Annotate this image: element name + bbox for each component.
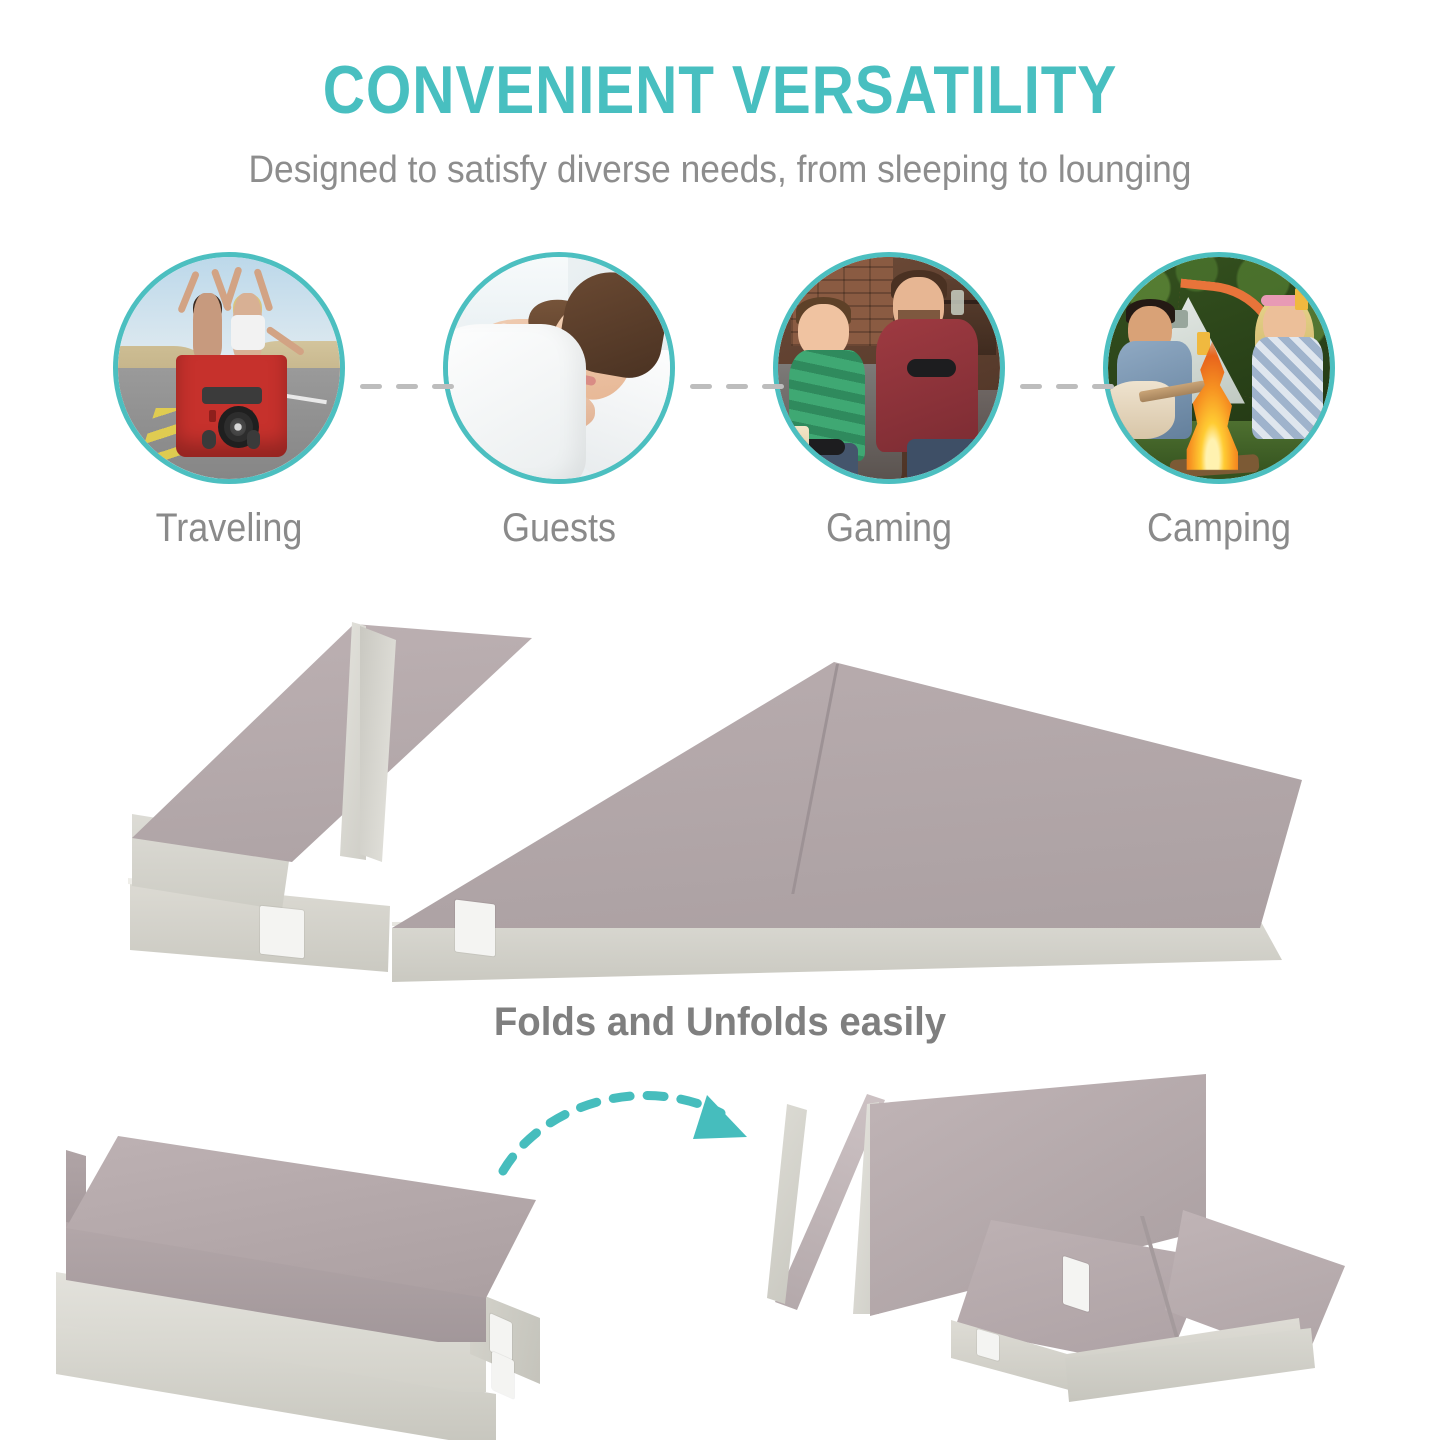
usecase-label: Gaming xyxy=(785,506,994,551)
connector-dashes xyxy=(360,383,454,389)
connector-dashes xyxy=(690,383,784,389)
tent-fold-photo xyxy=(765,1070,1345,1430)
usecase-guests: Guests xyxy=(443,252,675,551)
handle-tab xyxy=(260,906,304,959)
handle-tab xyxy=(455,900,495,957)
usecase-camping: Camping xyxy=(1103,252,1335,551)
page-title: CONVENIENT VERSATILITY xyxy=(101,56,1339,124)
usecase-label: Camping xyxy=(1115,506,1324,551)
folds-caption: Folds and Unfolds easily xyxy=(29,1000,1411,1045)
photo-campfire xyxy=(1108,257,1330,479)
usecase-row: Traveling Guests xyxy=(0,252,1440,602)
usecase-label: Traveling xyxy=(125,506,334,551)
page-subtitle: Designed to satisfy diverse needs, from … xyxy=(50,150,1389,192)
handle-tab xyxy=(1063,1256,1089,1312)
usecase-photo-traveling xyxy=(113,252,345,484)
folded-stack-photo xyxy=(40,1130,580,1430)
photo-father-son-gaming xyxy=(778,257,1000,479)
usecase-label: Guests xyxy=(455,506,664,551)
photo-sleeping-woman xyxy=(448,257,670,479)
usecase-photo-gaming xyxy=(773,252,1005,484)
hero-product-photo xyxy=(0,600,1440,980)
usecase-gaming: Gaming xyxy=(773,252,1005,551)
marketing-infographic: CONVENIENT VERSATILITY Designed to satis… xyxy=(0,0,1440,1440)
usecase-photo-camping xyxy=(1103,252,1335,484)
photo-jeep-desert xyxy=(118,257,340,479)
connector-dashes xyxy=(1020,383,1114,389)
usecase-traveling: Traveling xyxy=(113,252,345,551)
usecase-photo-guests xyxy=(443,252,675,484)
